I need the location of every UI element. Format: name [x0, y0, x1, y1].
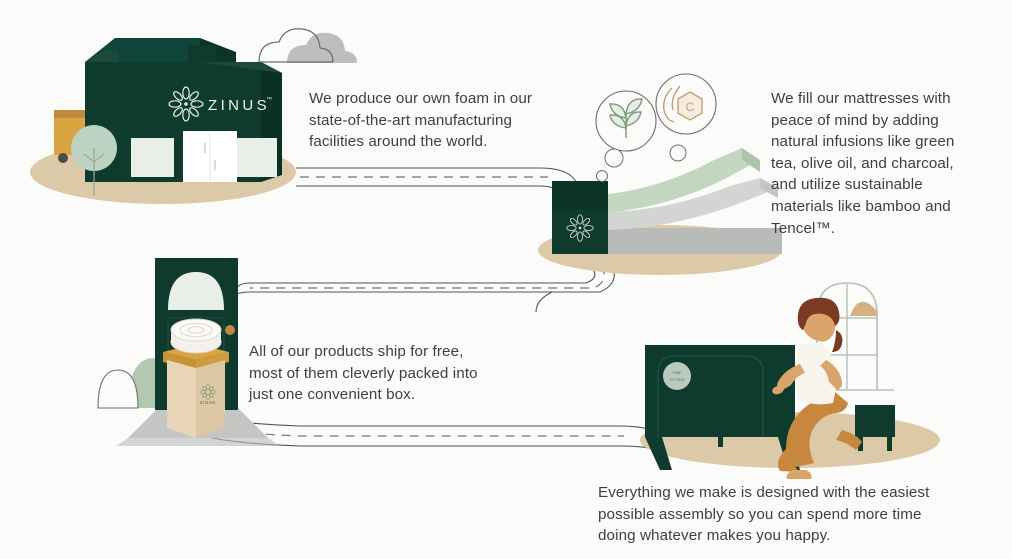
infographic-canvas: ZINUS ™: [0, 0, 1012, 559]
carbon-symbol-label: C: [686, 100, 695, 114]
mattress-logo-block: [552, 181, 608, 254]
headboard-badge-line1: TIME: [672, 370, 682, 375]
thought-bubble-small-c: [670, 145, 686, 161]
zinus-wordmark: ZINUS: [208, 97, 270, 114]
headboard-badge-line2: TO FIND: [669, 377, 685, 382]
shipping-box: ZINUS: [163, 319, 229, 438]
caption-assembly: Everything we make is designed with the …: [598, 482, 948, 547]
thought-bubble-small-a: [605, 149, 623, 167]
thought-bubble-small-b: [597, 171, 608, 182]
box-zinus-wordmark: ZINUS: [200, 400, 216, 405]
factory-double-doors: [183, 131, 237, 182]
caption-ship: All of our products ship for free, most …: [249, 341, 499, 406]
factory-window-right: [234, 138, 277, 177]
doorknob-icon[interactable]: [225, 325, 235, 335]
bed-leg-mid: [718, 437, 723, 447]
zinus-trademark-icon: ™: [266, 96, 272, 103]
factory-window-left: [131, 138, 174, 177]
walkway-edge: [116, 438, 280, 446]
caption-foam: We produce our own foam in our state-of-…: [309, 88, 569, 153]
headboard-badge: [663, 362, 691, 390]
caption-fill: We fill our mattresses with peace of min…: [771, 88, 971, 239]
